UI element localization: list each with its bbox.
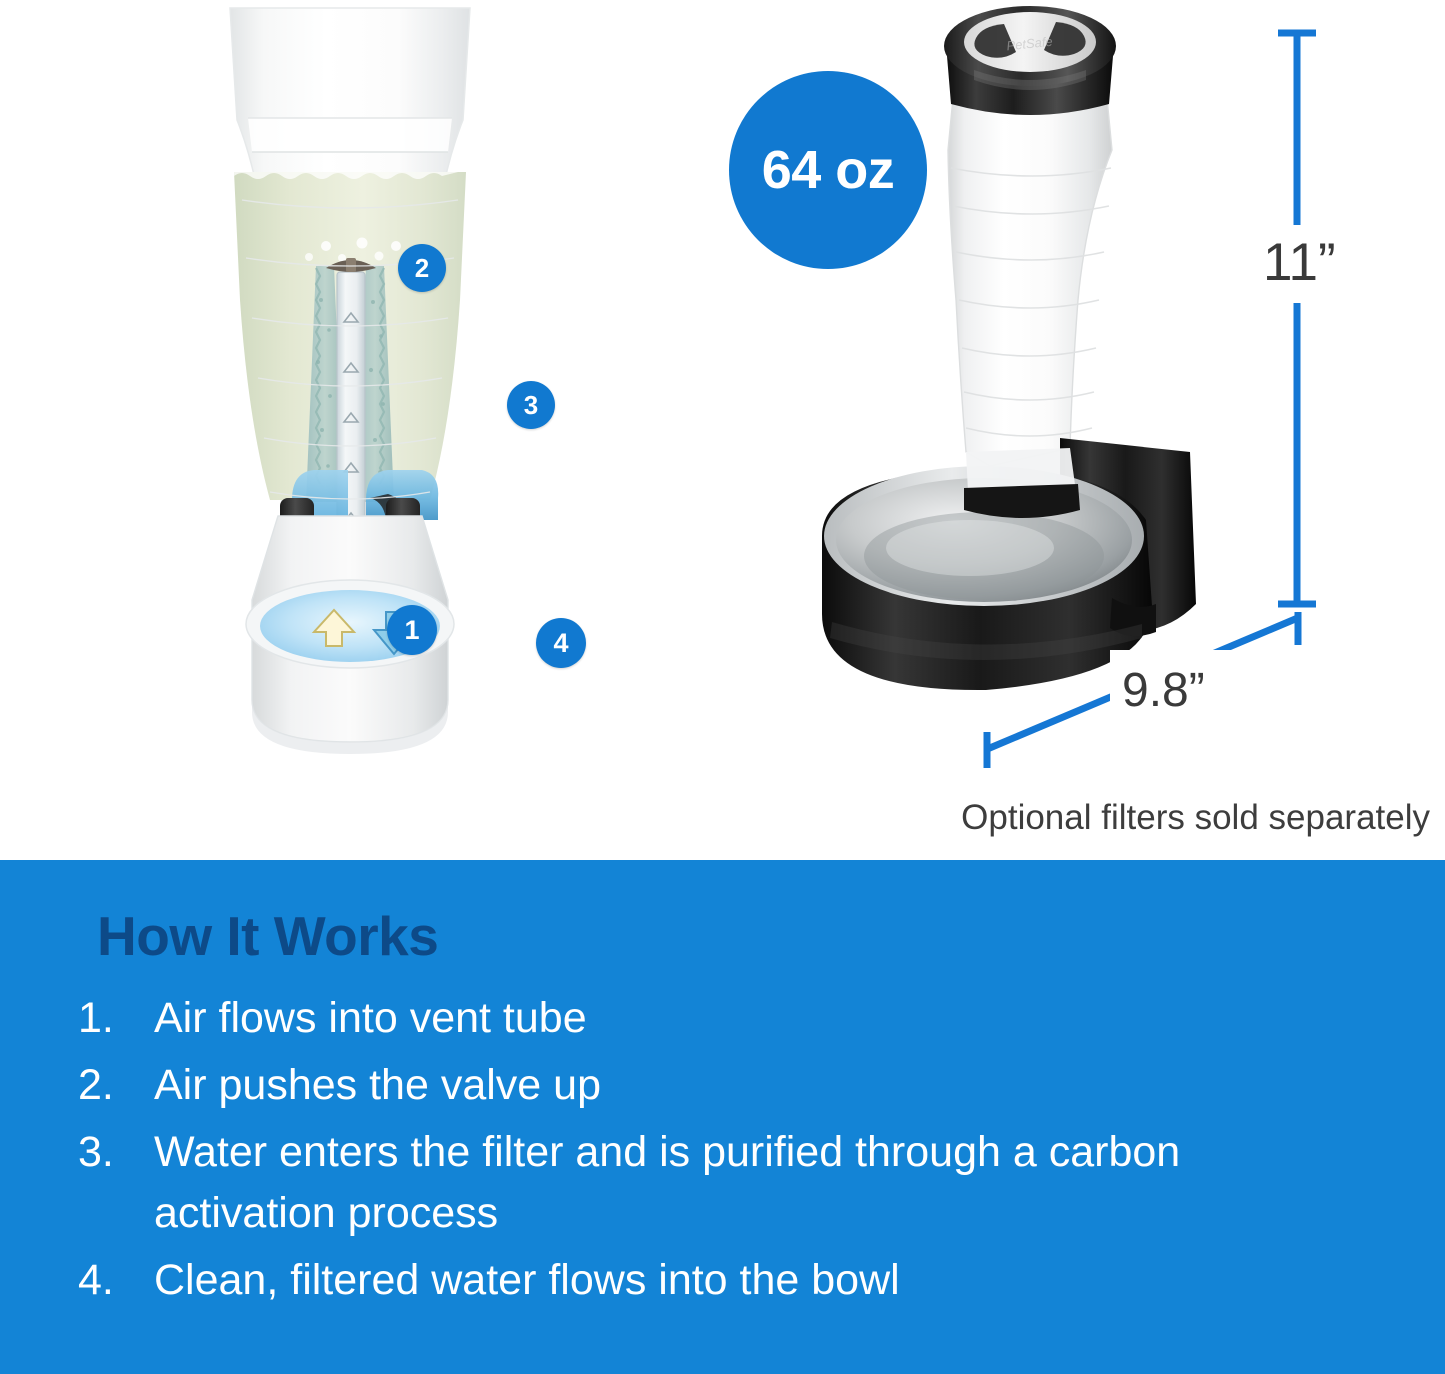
step-number: 1. <box>78 988 154 1049</box>
callout-badge-2: 2 <box>398 244 446 292</box>
step-number: 4. <box>78 1250 154 1311</box>
callout-badge-3: 3 <box>507 381 555 429</box>
product-photo: PetSafe <box>760 0 1300 780</box>
callout-badge-4: 4 <box>536 618 586 668</box>
step-text: Clean, filtered water flows into the bow… <box>154 1250 1278 1311</box>
step-number: 3. <box>78 1122 154 1183</box>
step-item: 1. Air flows into vent tube <box>78 988 1278 1049</box>
how-it-works-steps: 1. Air flows into vent tube 2. Air pushe… <box>78 988 1278 1317</box>
bottle-lid: PetSafe <box>944 6 1116 115</box>
callout-badge-1: 1 <box>387 605 437 655</box>
step-item: 2. Air pushes the valve up <box>78 1055 1278 1116</box>
cutaway-diagram: 1 2 3 4 <box>130 0 570 800</box>
step-text: Water enters the filter and is purified … <box>154 1122 1278 1244</box>
step-number: 2. <box>78 1055 154 1116</box>
how-it-works-panel: How It Works 1. Air flows into vent tube… <box>0 860 1445 1374</box>
how-it-works-title: How It Works <box>97 904 438 968</box>
step-text: Air flows into vent tube <box>154 988 1278 1049</box>
step-text: Air pushes the valve up <box>154 1055 1278 1116</box>
step-item: 4. Clean, filtered water flows into the … <box>78 1250 1278 1311</box>
bottle-reservoir <box>948 98 1112 466</box>
width-dimension-label: 9.8” <box>1122 663 1205 718</box>
top-image-area: 1 2 3 4 64 oz <box>0 0 1445 860</box>
height-dimension-label: 11” <box>1263 232 1336 293</box>
filters-footnote: Optional filters sold separately <box>900 798 1430 838</box>
step-item: 3. Water enters the filter and is purifi… <box>78 1122 1278 1244</box>
base-stand <box>822 438 1196 690</box>
product-infographic: 1 2 3 4 64 oz <box>0 0 1445 1374</box>
